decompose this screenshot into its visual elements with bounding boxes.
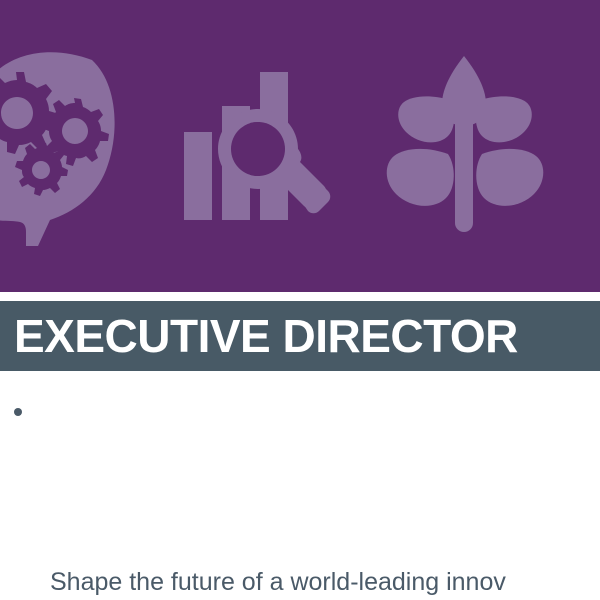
bullet-dot-icon — [14, 408, 22, 416]
bullet-body: Shape the future of a world-leading inno… — [0, 371, 600, 600]
bullet-list: Shape the future of a world-leading inno… — [0, 371, 600, 600]
head-with-gears-icon — [0, 46, 160, 246]
job-advert-banner: EXECUTIVE DIRECTOR Shape the future of a… — [0, 0, 600, 600]
bar-chart-magnifier-icon — [178, 62, 352, 232]
title-bar: EXECUTIVE DIRECTOR — [0, 301, 600, 371]
list-item-line: Shape the future of a world-leading inno… — [50, 565, 600, 599]
list-item: Shape the future of a world-leading inno… — [0, 395, 600, 600]
plant-leaves-icon — [382, 52, 548, 242]
hero-banner — [0, 0, 600, 292]
list-item-text: Shape the future of a world-leading inno… — [50, 497, 600, 600]
separator-gap — [0, 292, 600, 301]
hero-icon-row — [0, 0, 600, 292]
page-title: EXECUTIVE DIRECTOR — [14, 313, 518, 359]
